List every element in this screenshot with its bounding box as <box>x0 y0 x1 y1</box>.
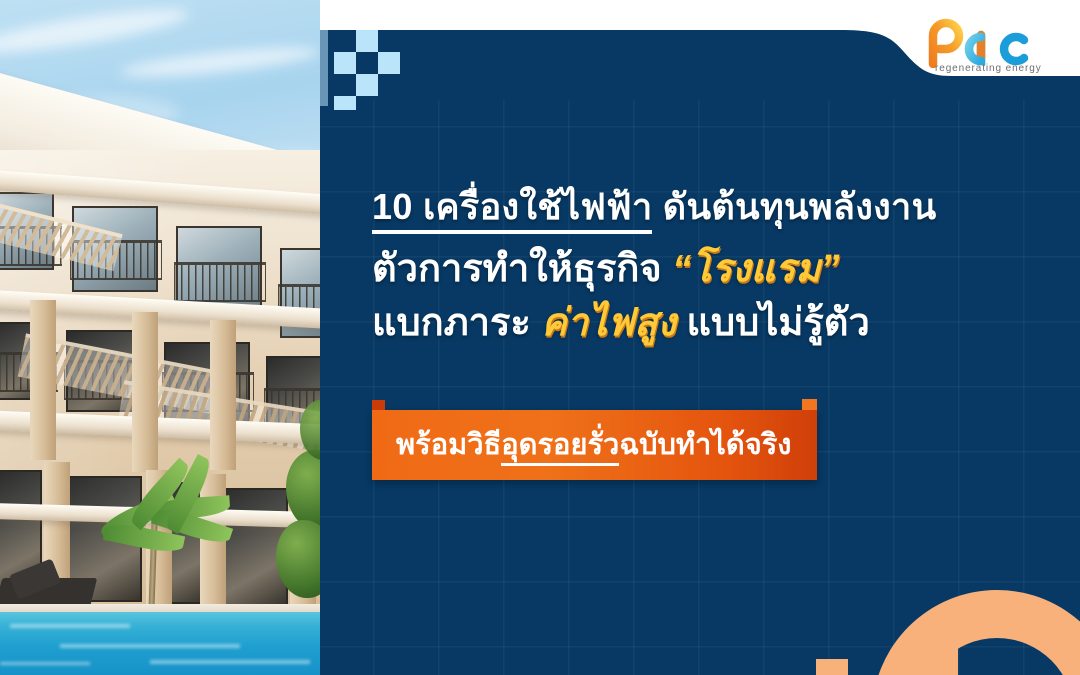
arc-tab-small <box>816 659 848 675</box>
pac-logo-mark <box>921 18 1061 68</box>
pixel-square <box>334 52 356 74</box>
headline-line-1: 10 เครื่องใช้ไฟฟ้า ดันต้นทุนพลังงาน <box>372 188 1062 226</box>
balcony-railing <box>174 262 266 302</box>
pixel-square <box>378 52 400 74</box>
column <box>200 474 226 610</box>
column <box>210 320 236 470</box>
column <box>30 300 56 460</box>
pixel-square <box>320 30 328 106</box>
headline-underlined: 10 เครื่องใช้ไฟฟ้า <box>372 186 652 234</box>
headline-line-3-prefix: แบกภาระ <box>372 302 541 344</box>
cta-ribbon[interactable]: พร้อมวิธีอุดรอยรั่วฉบับทำได้จริง <box>372 410 817 480</box>
content-panel: 10 เครื่องใช้ไฟฟ้า ดันต้นทุนพลังงาน ตัวก… <box>320 0 1080 675</box>
headline-line-1-rest: ดันต้นทุนพลังงาน <box>652 186 936 227</box>
ribbon-prefix: พร้อมวิธี <box>396 429 501 461</box>
pool-reflection <box>0 662 90 665</box>
ribbon-notch-left <box>372 400 385 410</box>
hotel-photo <box>0 0 320 675</box>
headline-block: 10 เครื่องใช้ไฟฟ้า ดันต้นทุนพลังงาน ตัวก… <box>372 188 1062 344</box>
pixel-square <box>356 74 378 96</box>
headline-highlight-bill: ค่าไฟสูง <box>541 302 676 344</box>
cta-ribbon-wrap: พร้อมวิธีอุดรอยรั่วฉบับทำได้จริง <box>372 410 817 480</box>
pac-logo[interactable]: regenerating energy <box>921 18 1061 86</box>
headline-line-3: แบกภาระ ค่าไฟสูง แบบไม่รู้ตัว <box>372 304 1062 344</box>
headline-highlight-hotel: “โรงแรม” <box>672 248 839 290</box>
headline-line-2-prefix: ตัวการทำให้ธุรกิจ <box>372 248 672 290</box>
headline-line-3-suffix: แบบไม่รู้ตัว <box>676 302 870 344</box>
pool-reflection <box>150 660 310 664</box>
ribbon-underlined: อุดรอยรั่ว <box>501 429 619 466</box>
arc-tab <box>906 643 958 675</box>
headline-line-2: ตัวการทำให้ธุรกิจ “โรงแรม” <box>372 250 1062 290</box>
pool-reflection <box>10 624 130 628</box>
pac-logo-tagline: regenerating energy <box>935 63 1042 74</box>
arc-decoration <box>852 465 1080 675</box>
pool-reflection <box>60 644 240 648</box>
ribbon-suffix: ฉบับทำได้จริง <box>619 429 791 461</box>
pixel-square <box>356 30 378 52</box>
poster-canvas: 10 เครื่องใช้ไฟฟ้า ดันต้นทุนพลังงาน ตัวก… <box>0 0 1080 675</box>
pixel-square <box>334 96 356 110</box>
ribbon-notch-right <box>802 399 817 410</box>
column <box>132 312 158 472</box>
